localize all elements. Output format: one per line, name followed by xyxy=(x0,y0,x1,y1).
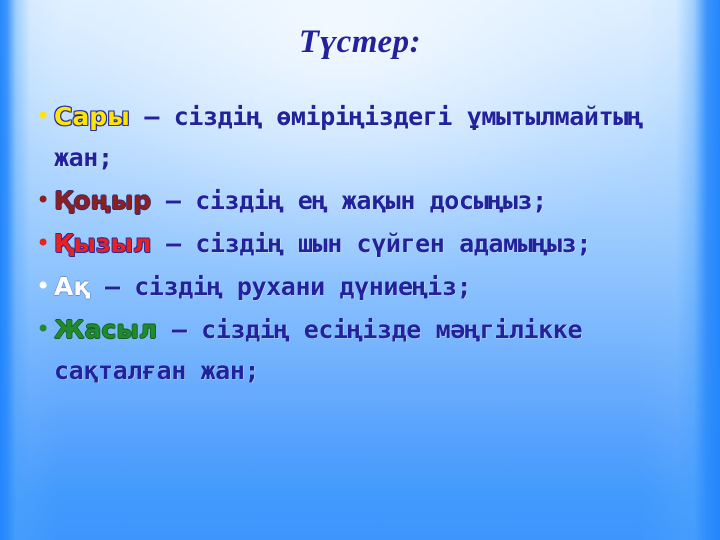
colour-keyword: Қоңыр xyxy=(54,186,151,215)
slide-title: Түстер: xyxy=(0,24,720,61)
list-item: •Сары – сіздің өміріңіздегі ұмытылмайтың… xyxy=(36,96,708,178)
colour-keyword: Жасыл xyxy=(54,315,157,344)
list-item-text: Қызыл – сіздің шын сүйген адамыңыз; xyxy=(54,223,708,264)
colour-description: – сіздің ең жақын досыңыз; xyxy=(151,186,547,215)
colour-keyword: Ақ xyxy=(54,272,90,301)
bullet-marker-icon: • xyxy=(36,309,54,350)
list-item-text: Сары – сіздің өміріңіздегі ұмытылмайтың … xyxy=(54,96,708,178)
list-item: •Қызыл – сіздің шын сүйген адамыңыз; xyxy=(36,223,708,264)
bullet-marker-icon: • xyxy=(36,96,54,137)
list-item-text: Жасыл – сіздің есіңізде мәңгілікке сақта… xyxy=(54,309,708,391)
colour-keyword: Қызыл xyxy=(54,229,151,258)
colour-description: – сіздің өміріңіздегі ұмытылмайтың жан; xyxy=(54,102,643,172)
list-item: •Жасыл – сіздің есіңізде мәңгілікке сақт… xyxy=(36,309,708,391)
presentation-slide: Түстер: •Сары – сіздің өміріңіздегі ұмыт… xyxy=(0,0,720,540)
bullet-marker-icon: • xyxy=(36,266,54,307)
list-item: •Ақ – сіздің рухани дүниеңіз; xyxy=(36,266,708,307)
colour-description: – сіздің рухани дүниеңіз; xyxy=(90,272,471,301)
list-item: •Қоңыр – сіздің ең жақын досыңыз; xyxy=(36,180,708,221)
colour-keyword: Сары xyxy=(54,102,130,131)
list-item-text: Ақ – сіздің рухани дүниеңіз; xyxy=(54,266,708,307)
bullet-marker-icon: • xyxy=(36,223,54,264)
slide-content: Түстер: •Сары – сіздің өміріңіздегі ұмыт… xyxy=(0,0,720,540)
bullet-list: •Сары – сіздің өміріңіздегі ұмытылмайтың… xyxy=(36,96,708,393)
bullet-marker-icon: • xyxy=(36,180,54,221)
list-item-text: Қоңыр – сіздің ең жақын досыңыз; xyxy=(54,180,708,221)
colour-description: – сіздің шын сүйген адамыңыз; xyxy=(151,229,591,258)
